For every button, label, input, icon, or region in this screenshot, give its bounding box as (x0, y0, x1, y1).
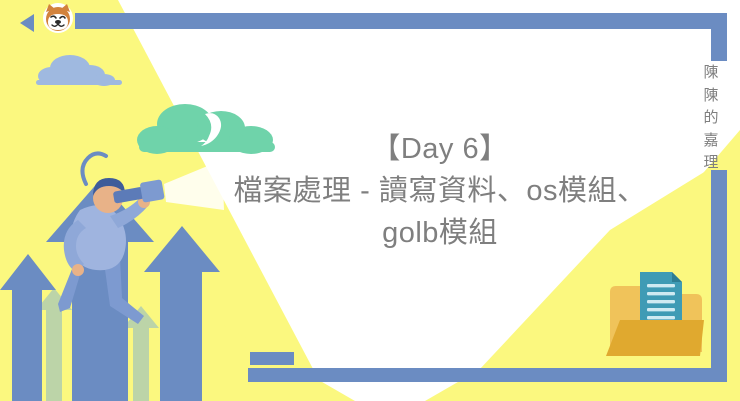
frame-bar-bottom (248, 368, 727, 382)
play-triangle-left-icon (20, 14, 34, 32)
slide-title-line-1: 【Day 6】 (180, 128, 700, 170)
slide-title: 【Day 6】 檔案處理 - 讀寫資料、os模組、 golb模組 (180, 128, 700, 254)
slide-title-line-2: 檔案處理 - 讀寫資料、os模組、 (180, 170, 700, 212)
frame-bar-right-lower (711, 170, 727, 375)
slide-canvas: 【Day 6】 檔案處理 - 讀寫資料、os模組、 golb模組 陳 陳 的 嘉… (0, 0, 740, 401)
shiba-dog-avatar (42, 2, 74, 34)
frame-bar-right-upper (711, 13, 727, 61)
brand-char-5: 理 (700, 152, 722, 175)
frame-bar-top (75, 13, 727, 29)
frame-accent-chip (250, 352, 294, 365)
slide-title-line-3: golb模組 (180, 212, 700, 254)
brand-char-3: 的 (700, 107, 722, 130)
brand-char-2: 陳 (700, 85, 722, 108)
brand-char-1: 陳 (700, 62, 722, 85)
folder-with-document-icon (604, 264, 708, 362)
brand-char-4: 嘉 (700, 130, 722, 153)
brand-vertical-text: 陳 陳 的 嘉 理 (700, 62, 722, 175)
cloud-icon (32, 52, 124, 88)
